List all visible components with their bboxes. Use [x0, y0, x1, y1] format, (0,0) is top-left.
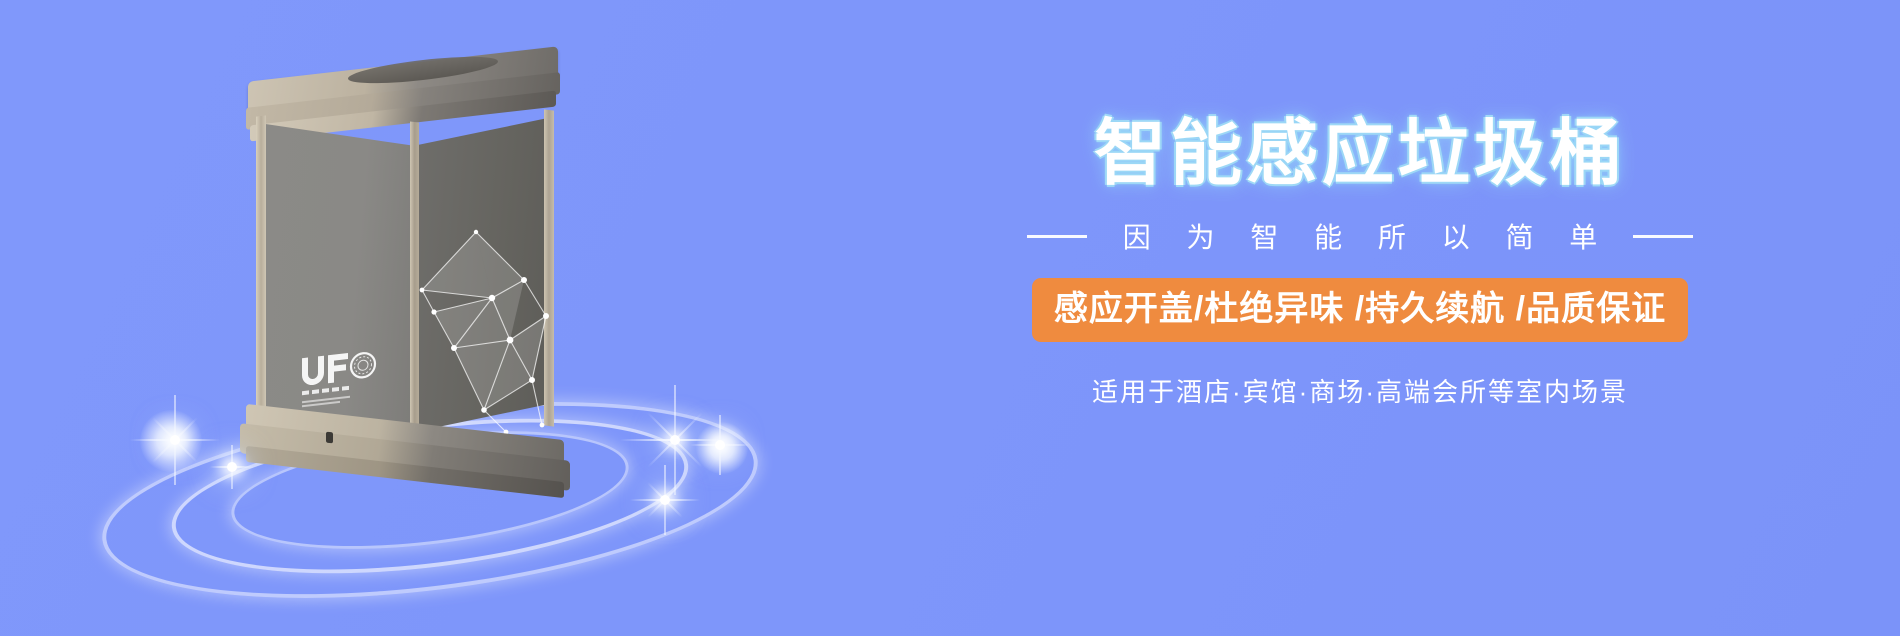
sparkle-icon-5 [690, 415, 750, 475]
product-image [90, 40, 790, 600]
tagline-text: 因 为 智 能 所 以 简 单 [1109, 216, 1611, 256]
network-pattern-graphic [414, 220, 554, 435]
sparkle-icon-2 [210, 445, 254, 489]
product-promo-banner: 智能感应垃圾桶 因 为 智 能 所 以 简 单 感应开盖/杜绝异味 /持久续航 … [0, 0, 1900, 636]
tagline-row: 因 为 智 能 所 以 简 单 [880, 216, 1840, 256]
sparkle-icon-4 [630, 465, 700, 535]
feature-badge-wrap: 感应开盖/杜绝异味 /持久续航 /品质保证 [880, 278, 1840, 342]
bin-door-latch [326, 432, 333, 444]
use-case-text: 适用于酒店·宾馆·商场·高端会所等室内场景 [880, 372, 1840, 409]
tagline-rule-right [1633, 235, 1693, 238]
bin-corner-pillar-left [256, 115, 266, 432]
ufo-brand-logo-icon [300, 346, 378, 411]
marketing-copy: 智能感应垃圾桶 因 为 智 能 所 以 简 单 感应开盖/杜绝异味 /持久续航 … [880, 118, 1840, 409]
smart-trash-bin [240, 50, 570, 480]
page-title: 智能感应垃圾桶 [880, 118, 1840, 190]
feature-highlight-badge: 感应开盖/杜绝异味 /持久续航 /品质保证 [1032, 278, 1688, 342]
sparkle-icon-1 [130, 395, 220, 485]
tagline-rule-left [1027, 235, 1087, 238]
